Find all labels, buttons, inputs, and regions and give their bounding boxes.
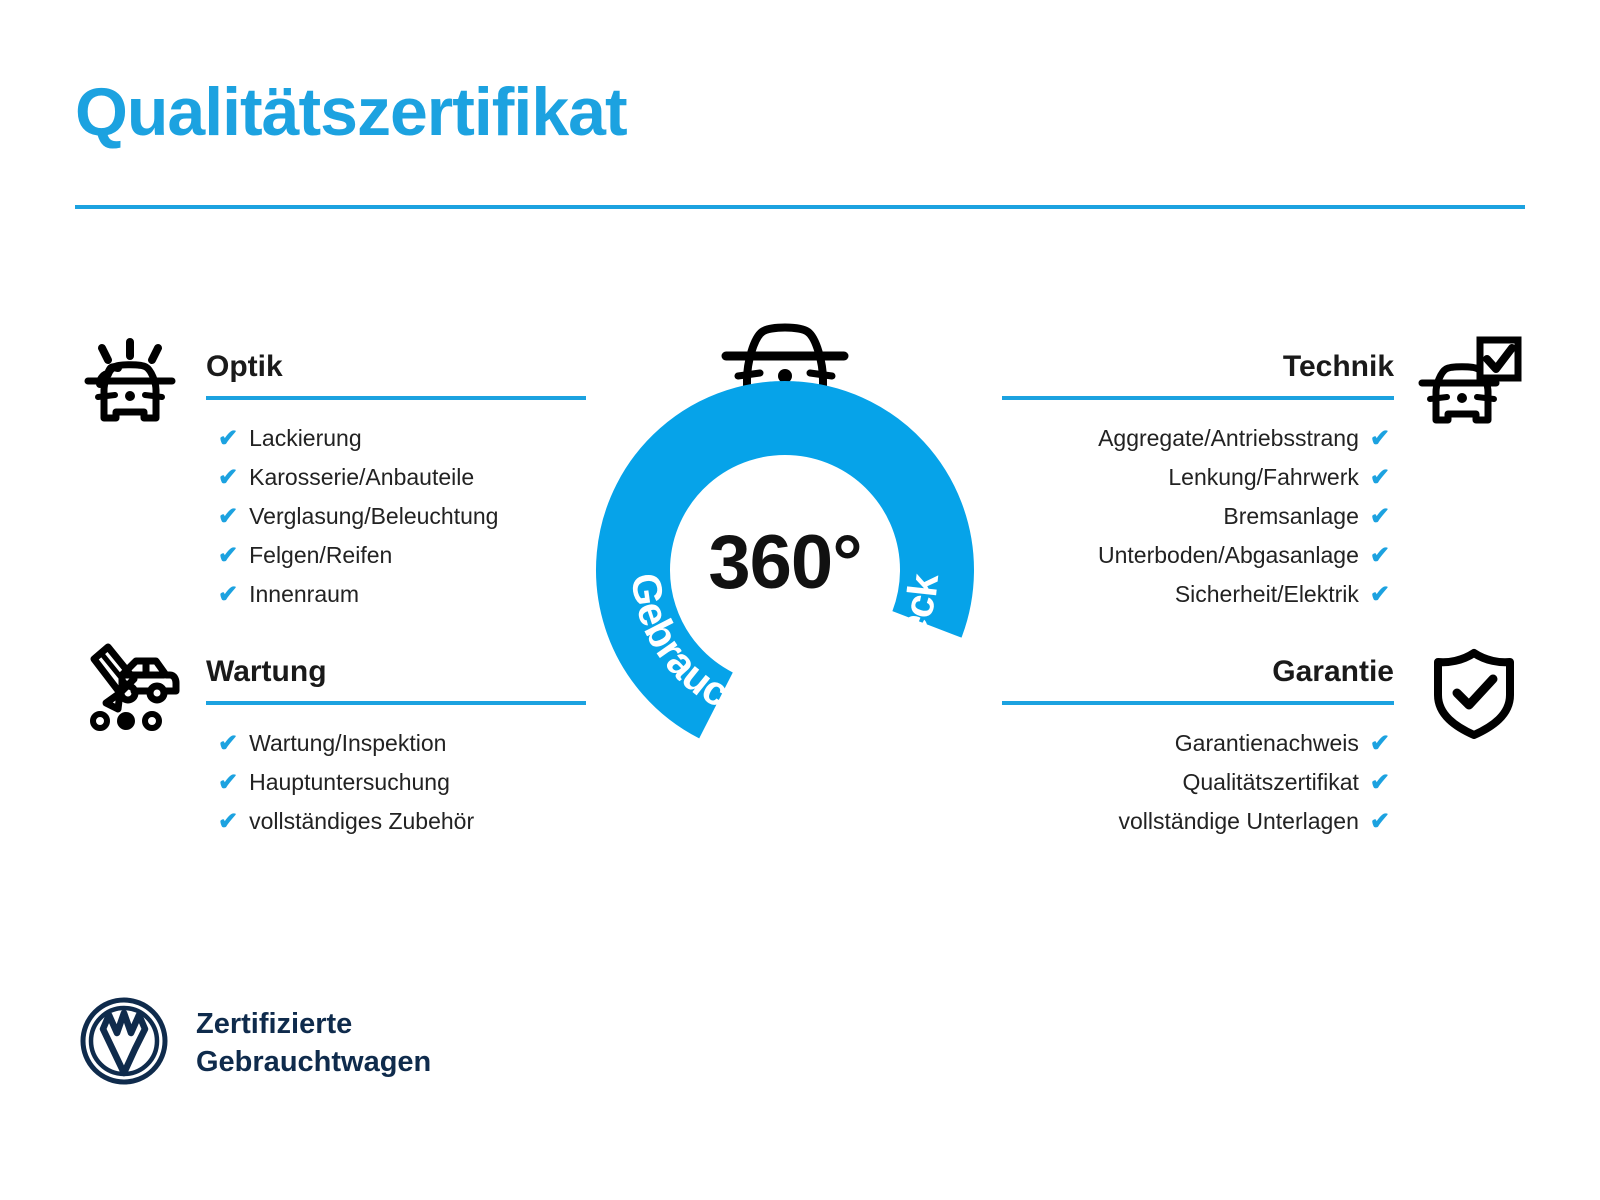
list-item: Unterboden/Abgasanlage ✔ (1002, 537, 1390, 576)
list-item-label: vollständige Unterlagen (1119, 803, 1359, 840)
check-icon: ✔ (1370, 420, 1390, 459)
list-item-label: Innenraum (249, 576, 359, 613)
360-check-badge: Gebrauchtwagen-Check 360° (560, 300, 1010, 760)
checklist-technik: Aggregate/Antriebsstrang ✔ Lenkung/Fahrw… (1002, 420, 1522, 614)
list-item-label: Garantienachweis (1175, 725, 1359, 762)
check-icon: ✔ (218, 576, 238, 615)
title-divider (75, 205, 1525, 209)
list-item: ✔ Lackierung (218, 420, 598, 459)
check-icon: ✔ (1370, 803, 1390, 842)
page-title: Qualitätszertifikat (75, 78, 627, 146)
list-item-label: Wartung/Inspektion (249, 725, 446, 762)
list-item: ✔ Innenraum (218, 576, 598, 615)
list-item: Aggregate/Antriebsstrang ✔ (1002, 420, 1390, 459)
list-item: Garantienachweis ✔ (1002, 725, 1390, 764)
check-icon: ✔ (218, 537, 238, 576)
360-ring: Gebrauchtwagen-Check (560, 380, 1010, 765)
check-icon: ✔ (218, 725, 238, 764)
quality-certificate-page: Qualitätszertifikat (0, 0, 1600, 1200)
check-icon: ✔ (1370, 576, 1390, 615)
list-item-label: Aggregate/Antriebsstrang (1098, 420, 1359, 457)
list-item-label: Verglasung/Beleuchtung (249, 498, 498, 535)
check-icon: ✔ (1370, 498, 1390, 537)
list-item: Lenkung/Fahrwerk ✔ (1002, 459, 1390, 498)
section-underline-optik (206, 396, 586, 400)
list-item-label: Karosserie/Anbauteile (249, 459, 474, 496)
car-front-shine-icon (78, 334, 182, 435)
pencil-car-service-icon (78, 639, 182, 740)
list-item: Sicherheit/Elektrik ✔ (1002, 576, 1390, 615)
check-icon: ✔ (1370, 725, 1390, 764)
section-title-optik: Optik (206, 352, 283, 382)
car-front-checkbox-icon (1418, 334, 1522, 435)
footer-line-2: Gebrauchtwagen (196, 1044, 431, 1081)
checklist-optik: ✔ Lackierung ✔ Karosserie/Anbauteile ✔ V… (78, 420, 598, 614)
checklist-wartung: ✔ Wartung/Inspektion ✔ Hauptuntersuchung… (78, 725, 598, 842)
section-garantie: Garantie Garantienachweis ✔ Qualitätszer… (1002, 645, 1522, 858)
list-item-label: Hauptuntersuchung (249, 764, 450, 801)
vw-certified-footer: Zertifizierte Gebrauchtwagen (78, 995, 431, 1092)
list-item: vollständige Unterlagen ✔ (1002, 803, 1390, 842)
list-item-label: vollständiges Zubehör (249, 803, 474, 840)
list-item: ✔ Karosserie/Anbauteile (218, 459, 598, 498)
section-technik: Technik Aggregate/Antriebsstrang ✔ Lenku… (1002, 340, 1522, 630)
list-item-label: Lenkung/Fahrwerk (1168, 459, 1359, 496)
section-header-technik: Technik (1002, 340, 1522, 388)
check-icon: ✔ (218, 459, 238, 498)
list-item: ✔ Verglasung/Beleuchtung (218, 498, 598, 537)
list-item: ✔ Hauptuntersuchung (218, 764, 598, 803)
section-wartung: Wartung ✔ Wartung/Inspektion ✔ Hauptunte… (78, 645, 598, 858)
list-item-label: Qualitätszertifikat (1182, 764, 1358, 801)
list-item: ✔ Wartung/Inspektion (218, 725, 598, 764)
list-item: Qualitätszertifikat ✔ (1002, 764, 1390, 803)
list-item-label: Bremsanlage (1223, 498, 1359, 535)
shield-check-icon (1426, 647, 1522, 744)
list-item-label: Lackierung (249, 420, 362, 457)
check-icon: ✔ (1370, 764, 1390, 803)
footer-line-1: Zertifizierte (196, 1006, 431, 1043)
check-icon: ✔ (218, 420, 238, 459)
volkswagen-logo (78, 995, 170, 1092)
list-item: ✔ Felgen/Reifen (218, 537, 598, 576)
section-title-garantie: Garantie (1272, 657, 1394, 687)
list-item: ✔ vollständiges Zubehör (218, 803, 598, 842)
section-underline-technik (1002, 396, 1394, 400)
check-icon: ✔ (218, 498, 238, 537)
section-optik: Optik ✔ Lackierung ✔ Karosserie/Anbautei… (78, 340, 598, 630)
check-icon: ✔ (1370, 459, 1390, 498)
list-item: Bremsanlage ✔ (1002, 498, 1390, 537)
check-icon: ✔ (218, 764, 238, 803)
list-item-label: Sicherheit/Elektrik (1175, 576, 1359, 613)
list-item-label: Felgen/Reifen (249, 537, 392, 574)
check-icon: ✔ (1370, 537, 1390, 576)
list-item-label: Unterboden/Abgasanlage (1098, 537, 1359, 574)
footer-text: Zertifizierte Gebrauchtwagen (196, 1006, 431, 1080)
section-underline-wartung (206, 701, 586, 705)
section-title-wartung: Wartung (206, 657, 327, 687)
check-icon: ✔ (218, 803, 238, 842)
section-header-optik: Optik (78, 340, 598, 388)
section-header-garantie: Garantie (1002, 645, 1522, 693)
section-underline-garantie (1002, 701, 1394, 705)
section-title-technik: Technik (1283, 352, 1394, 382)
section-header-wartung: Wartung (78, 645, 598, 693)
